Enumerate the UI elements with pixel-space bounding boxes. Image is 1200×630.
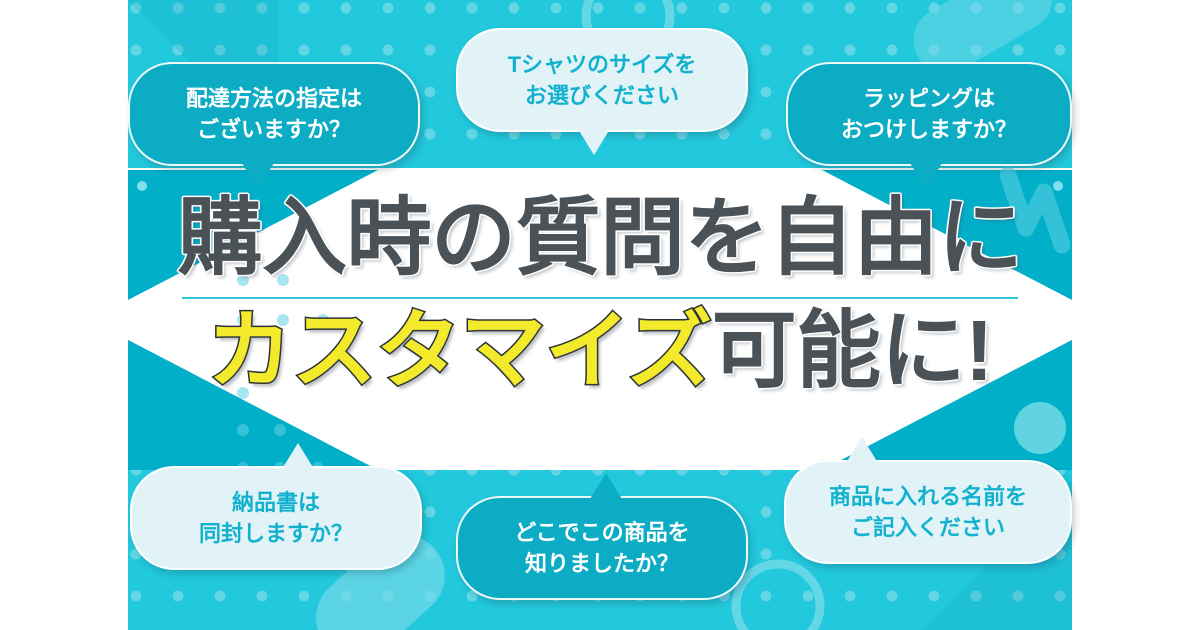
bubble-how-found-line-2: 知りましたか？ bbox=[525, 551, 679, 576]
bubble-tail-icon bbox=[590, 473, 622, 499]
bubble-tail-icon bbox=[242, 163, 274, 189]
bubble-how-found[interactable]: どこでこの商品を知りましたか？ bbox=[456, 496, 748, 600]
bubble-how-found-line-1: どこでこの商品を bbox=[514, 520, 689, 545]
bubble-delivery-line-1: 配達方法の指定は bbox=[186, 86, 362, 111]
bubble-tshirt-line-1: Tシャツのサイズを bbox=[508, 52, 697, 77]
bubble-product-name[interactable]: 商品に入れる名前をご記入ください bbox=[784, 460, 1072, 564]
bubble-how-found-text: どこでこの商品を知りましたか？ bbox=[500, 517, 703, 579]
bubble-delivery-line-2: ございますか？ bbox=[197, 117, 351, 142]
bubble-product-name-text: 商品に入れる名前をご記入ください bbox=[815, 481, 1041, 543]
headline-line-2-rest: 可能に! bbox=[712, 304, 993, 399]
headline-divider bbox=[182, 297, 1018, 299]
bubble-invoice-line-2: 同封しますか？ bbox=[199, 521, 353, 546]
bubble-invoice-line-1: 納品書は bbox=[232, 490, 320, 515]
bubble-wrapping-text: ラッピングはおつけしますか？ bbox=[827, 83, 1031, 145]
poster-canvas: 購入時の質問を自由に カスタマイズ可能に! 配達方法の指定はございますか？ Tシ… bbox=[0, 0, 1200, 630]
bubble-tail-icon bbox=[846, 437, 878, 463]
bubble-tshirt[interactable]: Tシャツのサイズをお選びください bbox=[456, 28, 748, 132]
bubble-wrapping[interactable]: ラッピングはおつけしますか？ bbox=[786, 62, 1072, 166]
headline-line-1: 購入時の質問を自由に bbox=[0, 196, 1200, 285]
headline-highlight: カスタマイズ bbox=[207, 304, 711, 399]
headline-line-2: カスタマイズ可能に! bbox=[0, 309, 1200, 394]
bubble-product-name-line-2: ご記入ください bbox=[851, 515, 1005, 540]
bubble-wrapping-line-2: おつけしますか？ bbox=[841, 117, 1017, 142]
headline-block: 購入時の質問を自由に カスタマイズ可能に! bbox=[0, 196, 1200, 394]
bubble-delivery-text: 配達方法の指定はございますか？ bbox=[172, 83, 376, 145]
bubble-invoice-text: 納品書は同封しますか？ bbox=[185, 487, 367, 549]
bubble-product-name-line-1: 商品に入れる名前を bbox=[829, 484, 1027, 509]
bubble-tshirt-text: Tシャツのサイズをお選びください bbox=[494, 49, 711, 111]
bubble-wrapping-line-1: ラッピングは bbox=[863, 86, 995, 111]
bubble-tail-icon bbox=[910, 163, 942, 189]
bubble-tail-icon bbox=[282, 443, 314, 469]
bubble-delivery[interactable]: 配達方法の指定はございますか？ bbox=[128, 62, 420, 166]
bubble-tail-icon bbox=[578, 129, 610, 155]
bubble-tshirt-line-2: お選びください bbox=[525, 83, 679, 108]
bubble-invoice[interactable]: 納品書は同封しますか？ bbox=[130, 466, 422, 570]
